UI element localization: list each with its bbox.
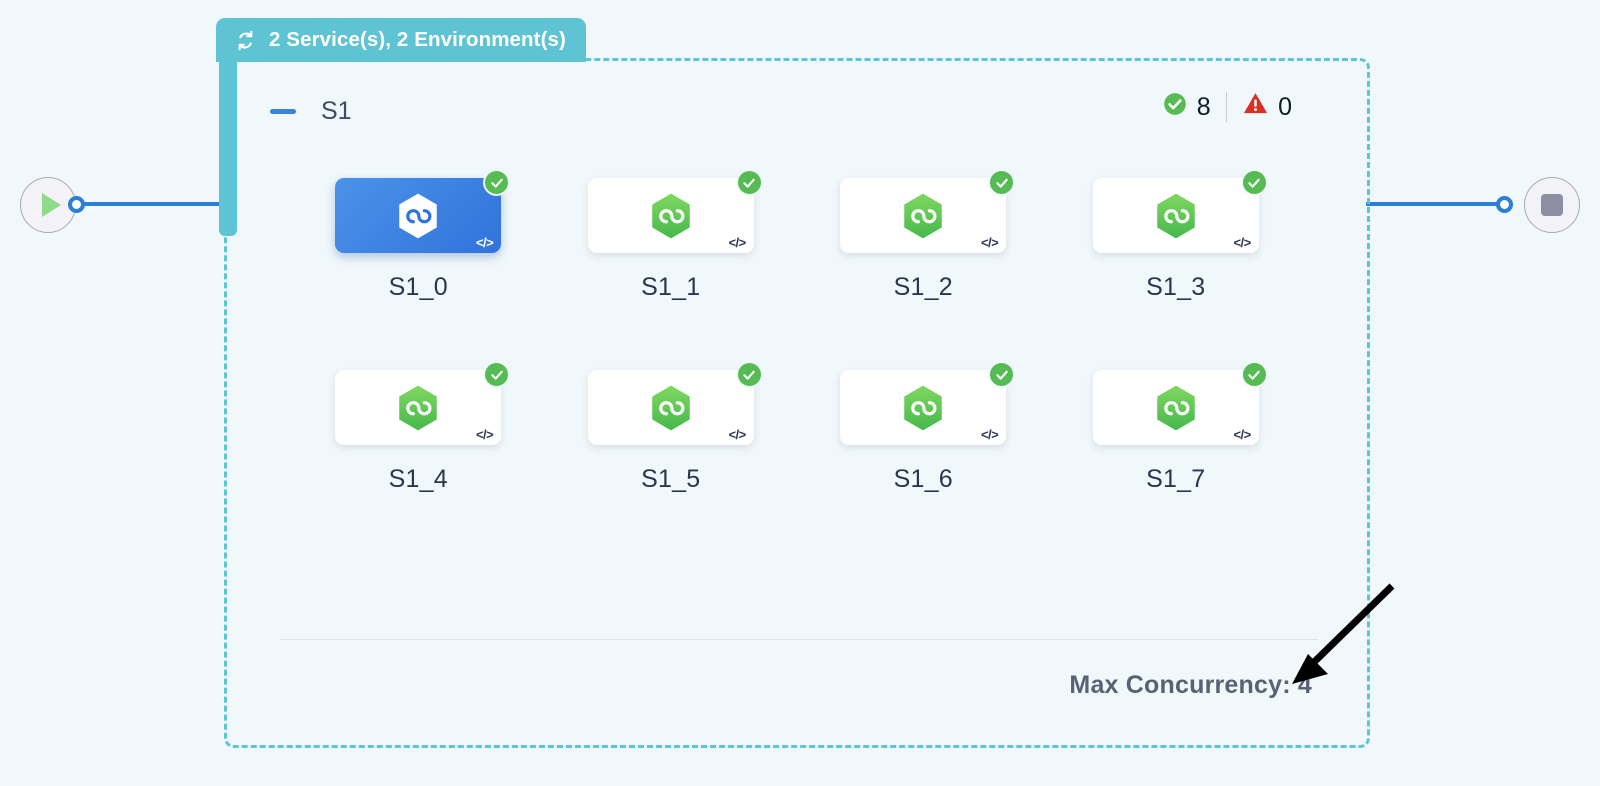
check-circle-icon xyxy=(1241,169,1268,196)
code-brackets-icon[interactable]: </> xyxy=(981,235,998,250)
success-count-chip: 8 xyxy=(1162,91,1211,124)
service-node-s1_5: </>S1_5 xyxy=(545,370,798,494)
status-divider xyxy=(1226,92,1228,122)
node-label: S1_3 xyxy=(1146,273,1205,302)
service-node-grid: </>S1_0 </>S1_1 </>S1_2 xyxy=(292,178,1302,494)
node-label: S1_0 xyxy=(389,273,448,302)
check-circle-icon xyxy=(1241,361,1268,388)
workflow-canvas[interactable]: 2 Service(s), 2 Environment(s) S1 8 xyxy=(0,0,1600,786)
loop-repeat-icon xyxy=(233,28,258,53)
service-hex-logo xyxy=(1151,191,1201,241)
node-card[interactable]: </> xyxy=(588,178,754,253)
service-node-s1_1: </>S1_1 xyxy=(545,178,798,302)
node-label: S1_5 xyxy=(641,465,700,494)
edge-start-to-loop xyxy=(84,202,228,206)
loop-group-header[interactable]: 2 Service(s), 2 Environment(s) xyxy=(216,18,586,62)
service-hex-logo xyxy=(393,383,443,433)
check-circle-icon xyxy=(483,361,510,388)
code-brackets-icon[interactable]: </> xyxy=(981,427,998,442)
service-hex-logo xyxy=(898,383,948,433)
start-node-output-port[interactable] xyxy=(68,196,85,213)
check-circle-icon xyxy=(988,361,1015,388)
node-label: S1_6 xyxy=(894,465,953,494)
panel-divider xyxy=(280,639,1318,641)
service-node-s1_3: </>S1_3 xyxy=(1050,178,1303,302)
service-hex-logo xyxy=(646,383,696,433)
code-brackets-icon[interactable]: </> xyxy=(1233,427,1250,442)
check-circle-icon xyxy=(483,169,510,196)
play-icon xyxy=(42,193,61,217)
node-label: S1_2 xyxy=(894,273,953,302)
service-node-s1_2: </>S1_2 xyxy=(797,178,1050,302)
code-brackets-icon[interactable]: </> xyxy=(728,235,745,250)
edge-loop-to-end xyxy=(1366,202,1498,206)
service-node-s1_7: </>S1_7 xyxy=(1050,370,1303,494)
node-card[interactable]: </> xyxy=(1093,370,1259,445)
code-brackets-icon[interactable]: </> xyxy=(476,235,493,250)
node-card[interactable]: </> xyxy=(840,370,1006,445)
max-concurrency-label: Max Concurrency: 4 xyxy=(1069,671,1312,700)
node-card[interactable]: </> xyxy=(588,370,754,445)
check-circle-icon xyxy=(736,169,763,196)
minus-collapse-icon[interactable] xyxy=(270,109,296,114)
node-card[interactable]: </> xyxy=(335,178,501,253)
service-hex-logo xyxy=(898,191,948,241)
code-brackets-icon[interactable]: </> xyxy=(476,427,493,442)
error-count-chip: 0 xyxy=(1242,90,1292,124)
node-card[interactable]: </> xyxy=(335,370,501,445)
service-panel-s1: S1 8 xyxy=(254,82,1340,722)
node-card[interactable]: </> xyxy=(1093,178,1259,253)
code-brackets-icon[interactable]: </> xyxy=(1233,235,1250,250)
code-brackets-icon[interactable]: </> xyxy=(728,427,745,442)
node-label: S1_4 xyxy=(389,465,448,494)
success-count-value: 8 xyxy=(1197,93,1211,122)
check-circle-icon xyxy=(736,361,763,388)
node-card[interactable]: </> xyxy=(840,178,1006,253)
error-count-value: 0 xyxy=(1278,93,1292,122)
service-node-s1_4: </>S1_4 xyxy=(292,370,545,494)
service-name-label: S1 xyxy=(321,97,352,126)
node-label: S1_7 xyxy=(1146,465,1205,494)
service-hex-logo xyxy=(393,191,443,241)
end-node[interactable] xyxy=(1524,177,1580,233)
loop-group-header-label: 2 Service(s), 2 Environment(s) xyxy=(269,28,566,52)
check-circle-icon xyxy=(1162,91,1188,124)
warning-triangle-icon xyxy=(1242,90,1269,124)
check-circle-icon xyxy=(988,169,1015,196)
stop-icon xyxy=(1541,194,1563,216)
service-hex-logo xyxy=(646,191,696,241)
service-node-s1_6: </>S1_6 xyxy=(797,370,1050,494)
service-hex-logo xyxy=(1151,383,1201,433)
end-node-input-port[interactable] xyxy=(1496,196,1513,213)
service-status-counts: 8 0 xyxy=(1162,90,1292,124)
node-label: S1_1 xyxy=(641,273,700,302)
service-node-s1_0: </>S1_0 xyxy=(292,178,545,302)
